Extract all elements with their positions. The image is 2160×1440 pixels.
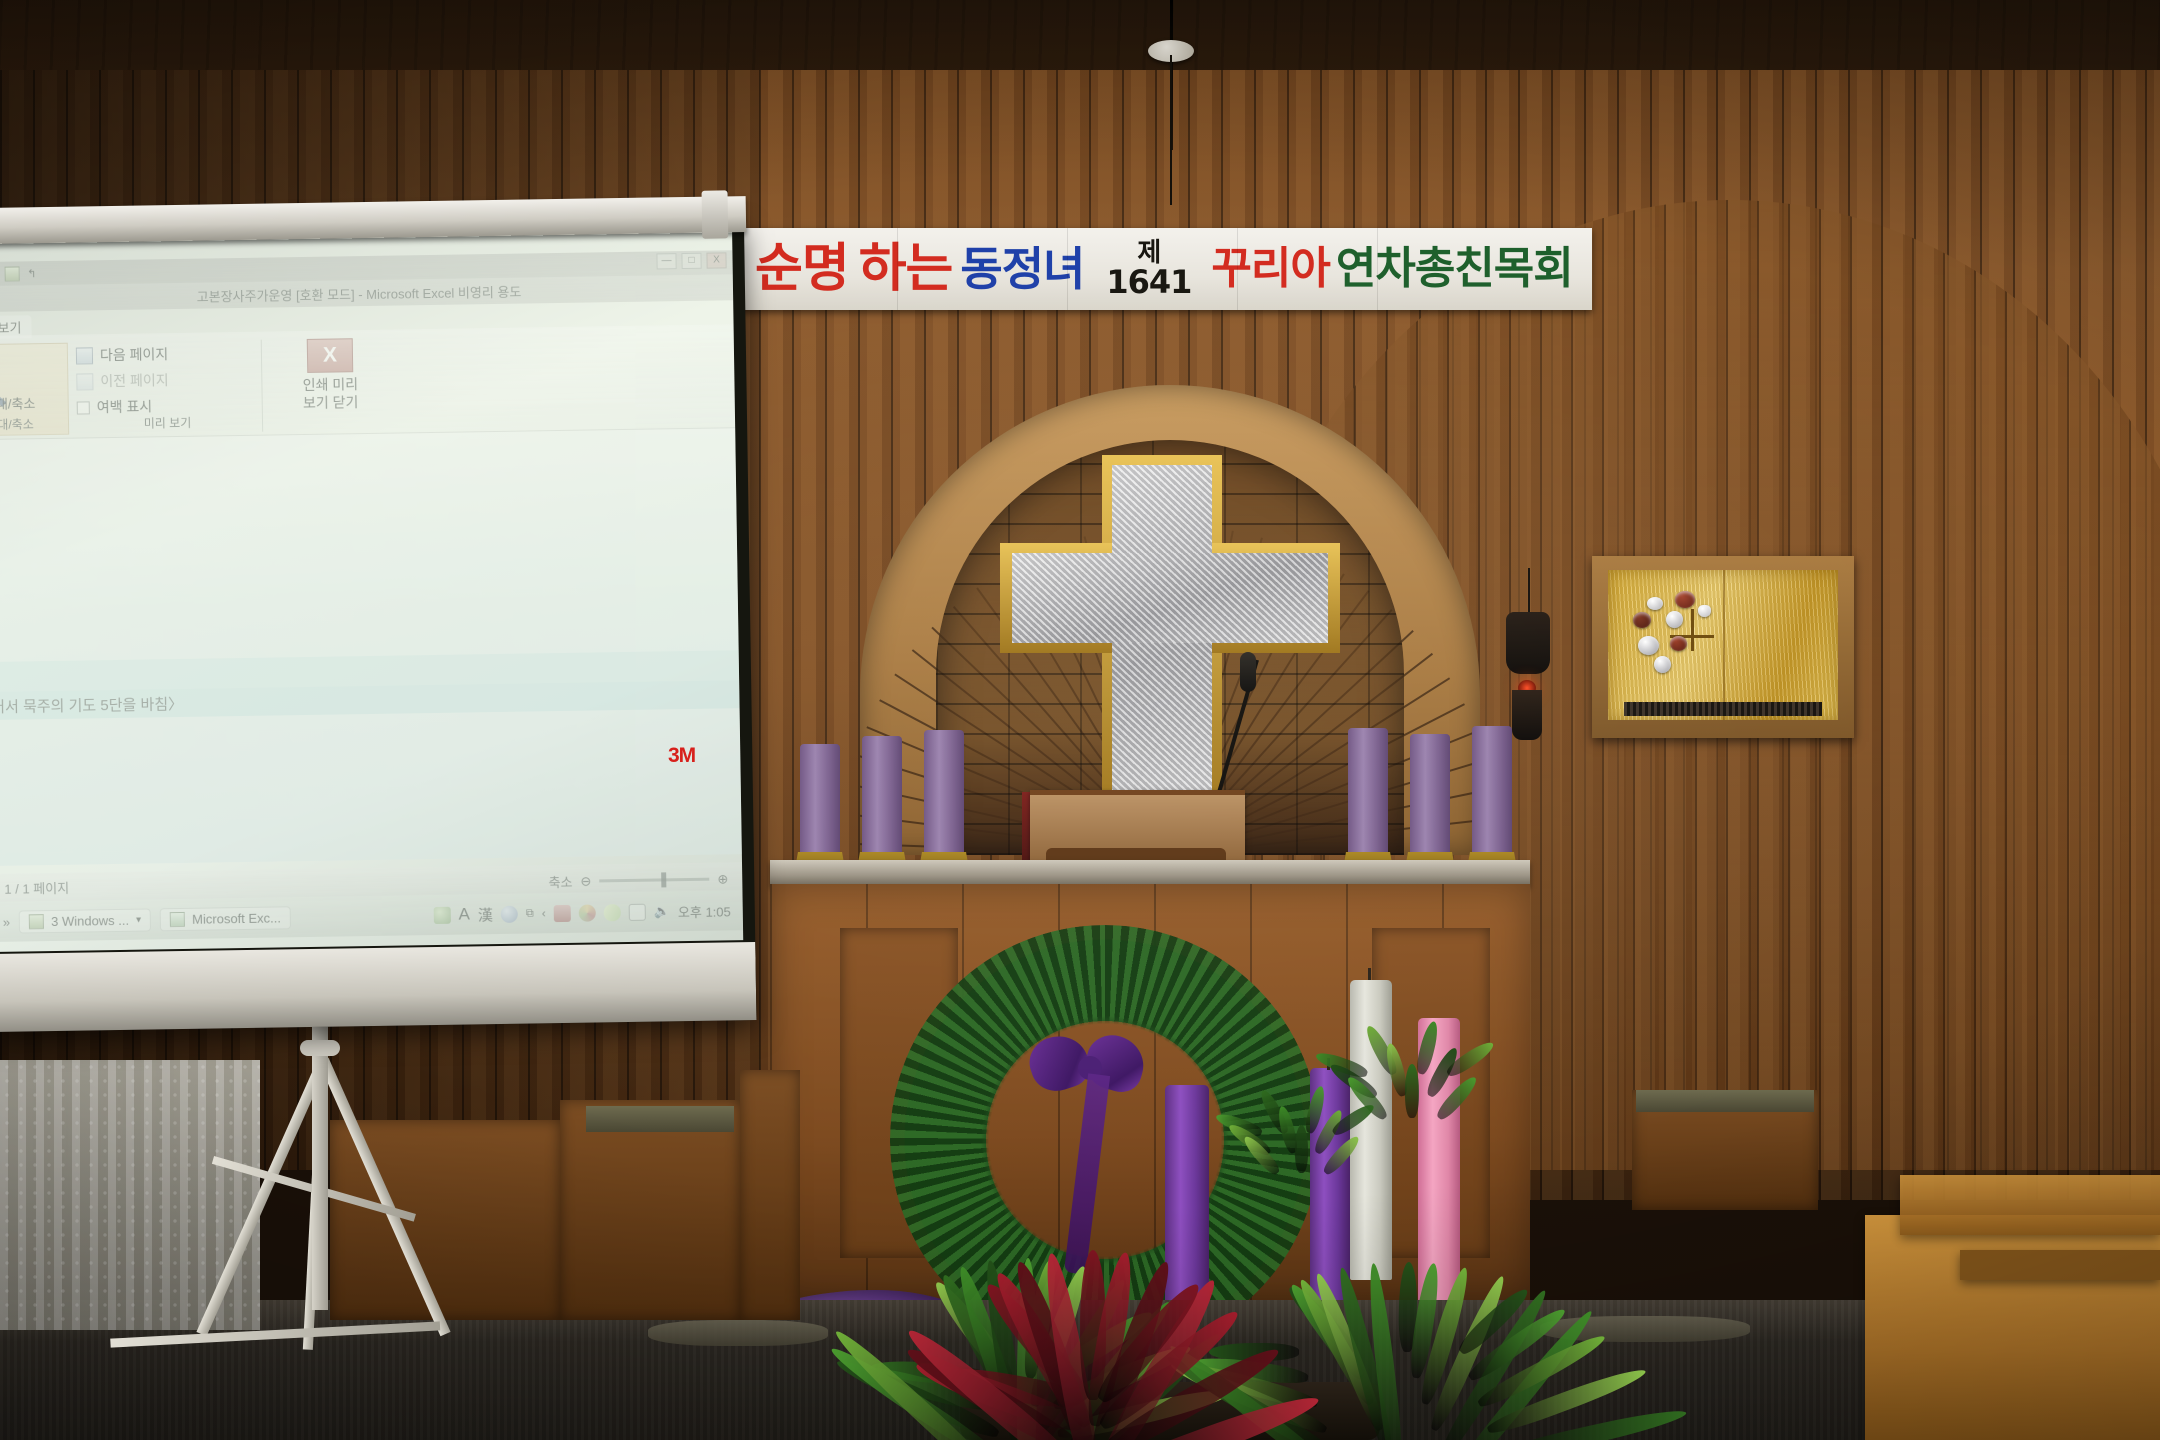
banner-word-4: 꾸리아 xyxy=(1211,247,1329,291)
cross-silver-horizontal xyxy=(1012,553,1328,643)
zoom-slider-control[interactable]: 축소 ⊖ ⊕ xyxy=(548,869,728,891)
plaque-jewel xyxy=(1647,597,1663,610)
next-page-icon xyxy=(76,347,93,364)
foliage-leaf xyxy=(1295,1125,1308,1173)
zoom-slider[interactable] xyxy=(599,878,709,883)
taskbar-button-excel[interactable]: Microsoft Exc... xyxy=(160,906,291,931)
tripod-knob xyxy=(300,1040,340,1056)
banner-word-5: 연차총친목회 xyxy=(1336,247,1573,291)
bench-cushion xyxy=(586,1106,734,1132)
foliage-leaf xyxy=(1405,1064,1419,1118)
next-page-label: 다음 페이지 xyxy=(100,344,169,365)
altar-candle xyxy=(1410,734,1450,852)
banner-number-value: 1641 xyxy=(1106,266,1191,298)
projected-excel-window: ▾ ↰ — □ X 고본장사주가운영 [호환 모드] - Microsoft E… xyxy=(0,230,743,952)
antivirus-icon[interactable] xyxy=(554,904,571,921)
window-group-icon xyxy=(29,914,44,929)
floor-mat-left xyxy=(648,1320,828,1346)
altar-candle xyxy=(1348,728,1388,852)
zoom-button-label[interactable]: 확대/축소 xyxy=(0,393,68,414)
banner-word-3: 동정녀 xyxy=(960,246,1084,292)
plaque-cross-icon xyxy=(1691,609,1694,651)
plaque-jewel xyxy=(1633,612,1651,628)
wall-banner: 순명 하는 동정녀 제 1641 꾸리아 연차총친목회 xyxy=(737,228,1592,310)
projection-screen: ▾ ↰ — □ X 고본장사주가운영 [호환 모드] - Microsoft E… xyxy=(0,220,756,1032)
taskbar-button-label: 3 Windows ... xyxy=(51,912,129,928)
page-indicator: 1 / 1 페이지 xyxy=(0,877,69,897)
excel-preview-page[interactable]: 이어서 묵주의 기도 5단을 바침〉 xyxy=(0,428,742,866)
undo-icon[interactable]: ↰ xyxy=(27,267,36,280)
sanctuary-lamp-base xyxy=(1512,690,1542,740)
plaque-jewel xyxy=(1666,611,1683,628)
screen-housing-endcap xyxy=(702,190,729,238)
taskbar-button-windows-group[interactable]: 3 Windows ... ▾ xyxy=(19,908,151,933)
ime-hanja-icon[interactable]: 漢 xyxy=(478,904,493,925)
candle-wick xyxy=(1368,968,1371,980)
altar-shelf xyxy=(770,860,1530,886)
taskbar-overflow-icon[interactable]: » xyxy=(3,914,10,929)
excel-icon xyxy=(170,911,185,926)
minimize-button[interactable]: — xyxy=(656,253,676,269)
chevron-left-icon[interactable]: ‹ xyxy=(542,906,546,920)
altar-microphone xyxy=(1240,652,1256,692)
volume-icon[interactable]: 🔈 xyxy=(654,903,670,919)
altar-candle xyxy=(800,744,840,852)
pew-shadow-gap xyxy=(1960,1250,2160,1280)
zoom-out-icon[interactable]: ⊖ xyxy=(580,873,591,889)
plaque-jewel xyxy=(1654,656,1671,673)
preview-group-label: 미리 보기 xyxy=(73,413,262,433)
taskbar-clock[interactable]: 오후 1:05 xyxy=(678,901,735,921)
preview-cell-text: 이어서 묵주의 기도 5단을 바침〉 xyxy=(0,689,183,720)
zoom-in-icon[interactable]: ⊕ xyxy=(717,871,728,887)
help-icon[interactable] xyxy=(501,905,518,922)
screen-bottom-bar xyxy=(0,942,756,1032)
plaque-spine xyxy=(1723,570,1725,720)
advent-candle-white xyxy=(1350,980,1392,1280)
display-icon[interactable] xyxy=(629,903,646,920)
altar-candle xyxy=(924,730,964,852)
zoom-label: 축소 xyxy=(548,872,572,891)
ribbon-group-close-preview[interactable]: X 인쇄 미리 보기 닫기 xyxy=(272,338,389,432)
banner-word-2: 하는 xyxy=(859,243,953,295)
plaque-jewel xyxy=(1670,636,1687,651)
close-button[interactable]: X xyxy=(706,252,726,268)
next-page-button[interactable]: 다음 페이지 xyxy=(72,340,261,369)
taskbar-button-label: Microsoft Exc... xyxy=(192,910,281,926)
wreath-bow xyxy=(1030,1030,1150,1120)
ime-pen-icon[interactable] xyxy=(433,906,450,923)
church-sanctuary-photo: 순명 하는 동정녀 제 1641 꾸리아 연차총친목회 xyxy=(0,0,2160,1440)
3m-logo: 3M xyxy=(668,744,728,770)
pill-icon[interactable] xyxy=(604,904,621,921)
ime-A-icon[interactable]: A xyxy=(458,904,470,924)
wooden-bench-mid xyxy=(560,1100,740,1320)
ribbon-group-preview[interactable]: 다음 페이지 이전 페이지 여백 표시 미리 보기 xyxy=(72,340,263,435)
plaque-base-strip xyxy=(1624,702,1822,716)
gold-plaque-surface xyxy=(1608,570,1838,720)
save-icon[interactable] xyxy=(4,266,19,281)
zoom-group-label: 확대/축소 xyxy=(0,415,68,434)
maximize-button[interactable]: □ xyxy=(681,253,701,269)
wooden-bench-right xyxy=(740,1070,800,1320)
sanctuary-lamp-chain xyxy=(1528,568,1530,618)
altar-cross xyxy=(1000,455,1340,815)
plaque-jewel xyxy=(1698,605,1711,617)
ime-options-icon[interactable]: ⧉ xyxy=(526,907,534,920)
system-tray[interactable]: A 漢 ⧉ ‹ 🔈 오후 1:05 xyxy=(433,900,735,926)
media-icon[interactable] xyxy=(579,904,596,921)
ribbon-group-zoom[interactable]: 확대/축소 확대/축소 xyxy=(0,343,69,437)
checkbox-icon[interactable] xyxy=(77,401,90,414)
plaque-jewel xyxy=(1675,591,1695,608)
previous-page-icon xyxy=(76,373,93,390)
close-preview-label-2: 보기 닫기 xyxy=(273,393,389,412)
altar-candle xyxy=(1472,726,1512,852)
sanctuary-lamp xyxy=(1506,612,1550,674)
hanging-cable xyxy=(1170,55,1172,205)
gold-book-plaque xyxy=(1592,556,1854,738)
close-preview-icon[interactable]: X xyxy=(307,338,354,373)
altar-candle xyxy=(862,736,902,852)
wooden-pew-back xyxy=(1900,1175,2160,1235)
wooden-pew-front xyxy=(1865,1215,2160,1440)
plaque-jewel xyxy=(1638,636,1659,655)
window-controls[interactable]: — □ X xyxy=(656,252,726,269)
excel-ribbon[interactable]: 확대/축소 확대/축소 다음 페이지 이전 페이지 xyxy=(0,324,735,440)
previous-page-label: 이전 페이지 xyxy=(100,370,169,391)
previous-page-button[interactable]: 이전 페이지 xyxy=(72,366,261,395)
chevron-down-icon[interactable]: ▾ xyxy=(136,914,141,925)
wall-shelf-cushion xyxy=(1636,1090,1814,1112)
close-preview-label-1: 인쇄 미리 xyxy=(272,376,388,395)
banner-word-1: 순명 xyxy=(755,243,849,295)
projection-surface: ▾ ↰ — □ X 고본장사주가운영 [호환 모드] - Microsoft E… xyxy=(0,230,743,952)
